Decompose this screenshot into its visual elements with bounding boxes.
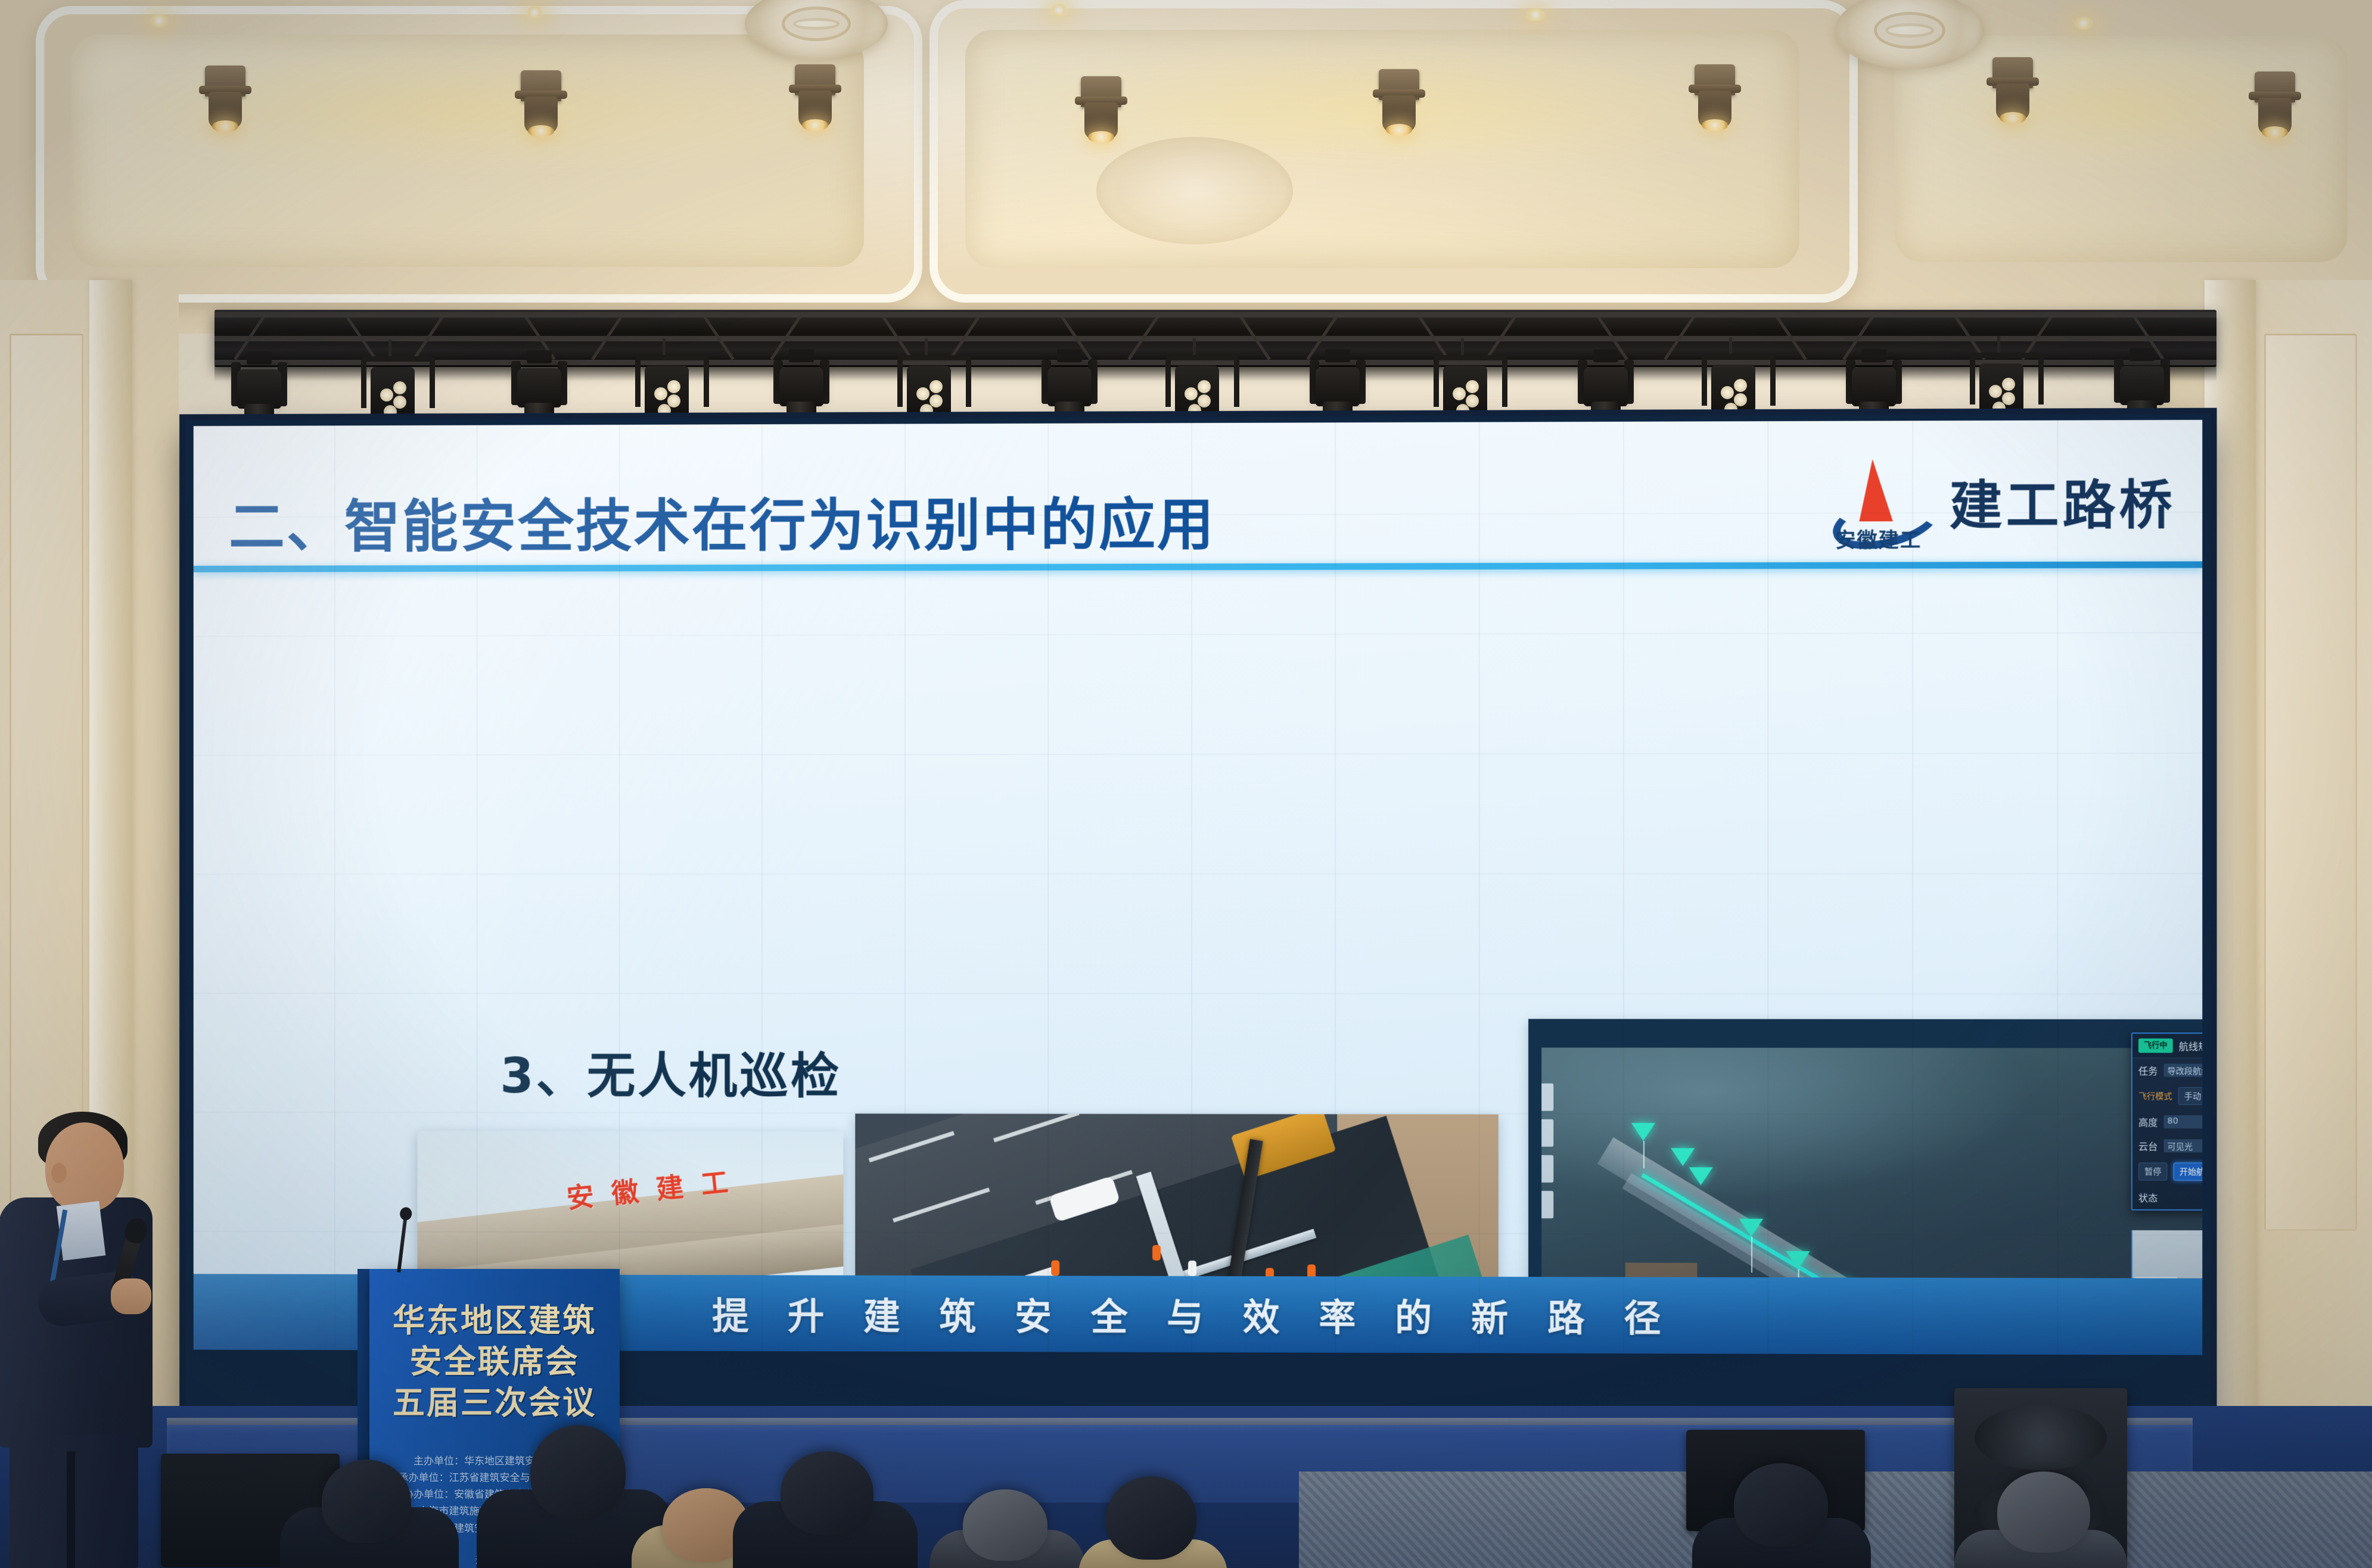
logo-wordmark: 建工路桥 (1950, 462, 2176, 539)
slide-footer-text: 提 升 建 筑 安 全 与 效 率 的 新 路 径 (712, 1286, 1674, 1342)
podium-line-1: 华东地区建筑 (393, 1302, 596, 1339)
altitude-label: 高度 (2138, 1115, 2158, 1129)
altitude-input[interactable]: 80 (2163, 1115, 2202, 1129)
anhui-construction-logo-icon: 安徽建工 (1828, 456, 1929, 545)
waypoint-marker[interactable] (1689, 1167, 1712, 1185)
audience-head (1997, 1471, 2090, 1553)
status-badge: 飞行中 (2138, 1038, 2173, 1053)
audience-head (530, 1425, 626, 1519)
audience-head (1106, 1476, 1196, 1560)
wall-panel (10, 334, 83, 1231)
podium-line-3: 五届三次会议 (393, 1384, 596, 1421)
title-divider (194, 561, 2203, 572)
ceiling-spot-fixture (197, 66, 254, 137)
ceiling-spot-fixture (1686, 64, 1743, 136)
ceiling-spot-fixture (786, 64, 844, 136)
section-heading: 3、无人机巡检 (500, 1036, 841, 1107)
mission-control-panel[interactable]: 飞行中 航线规划 任务 ⚠ ▲ ✕ 任务 导改段航线 飞行模式 手动 航 (2131, 1032, 2202, 1211)
company-logo: 安徽建工 建工路桥 (1828, 456, 2176, 545)
wall-panel (2264, 334, 2357, 1231)
ceiling (0, 0, 2372, 334)
ceiling-spot-fixture (1370, 69, 1428, 141)
ceiling-spot-fixture (1984, 57, 2041, 129)
camera-input[interactable]: 可见光 (2163, 1139, 2202, 1153)
map-left-toolbar[interactable] (1541, 1084, 1553, 1219)
pause-button[interactable]: 暂停 (2138, 1163, 2168, 1181)
presentation-slide: 二、智能安全技术在行为识别中的应用 安徽建工 建工路桥 3、无人机巡检 (194, 420, 2203, 1355)
ceiling-rosette (1096, 137, 1293, 244)
audience-head (1734, 1463, 1828, 1547)
waypoint-marker[interactable] (1671, 1148, 1695, 1166)
ceiling-spot-fixture (1072, 76, 1130, 148)
panel-title: 航线规划 (2179, 1038, 2202, 1053)
ceiling-spot-fixture (512, 70, 570, 142)
panel-footer-label: 状态 (2138, 1190, 2158, 1205)
waypoint-marker[interactable] (1631, 1123, 1655, 1141)
audience-head (322, 1460, 411, 1543)
presenter (0, 1108, 191, 1568)
slide-title: 二、智能安全技术在行为识别中的应用 (229, 480, 1215, 564)
conference-hall-photo: 二、智能安全技术在行为识别中的应用 安徽建工 建工路桥 3、无人机巡检 (0, 0, 2372, 1568)
podium-line-2: 安全联席会 (410, 1343, 580, 1380)
audience-head (781, 1451, 873, 1535)
route-label: 任务 (2138, 1063, 2158, 1078)
ceiling-spot-fixture (2246, 71, 2303, 143)
logo-mark-label: 安徽建工 (1828, 524, 1929, 553)
panel-titlebar: 飞行中 航线规划 任务 ⚠ ▲ ✕ (2132, 1034, 2202, 1059)
mode-option-manual[interactable]: 手动 (2178, 1087, 2202, 1105)
wall-pilaster (2205, 280, 2256, 1568)
waypoint-marker[interactable] (1786, 1251, 1810, 1269)
camera-label: 云台 (2138, 1138, 2158, 1153)
mode-label: 飞行模式 (2138, 1090, 2172, 1102)
route-input[interactable]: 导改段航线 (2163, 1064, 2202, 1077)
audience-head (963, 1489, 1047, 1561)
waypoint-marker[interactable] (1739, 1219, 1763, 1237)
start-route-button[interactable]: 开始航线 (2174, 1163, 2203, 1181)
